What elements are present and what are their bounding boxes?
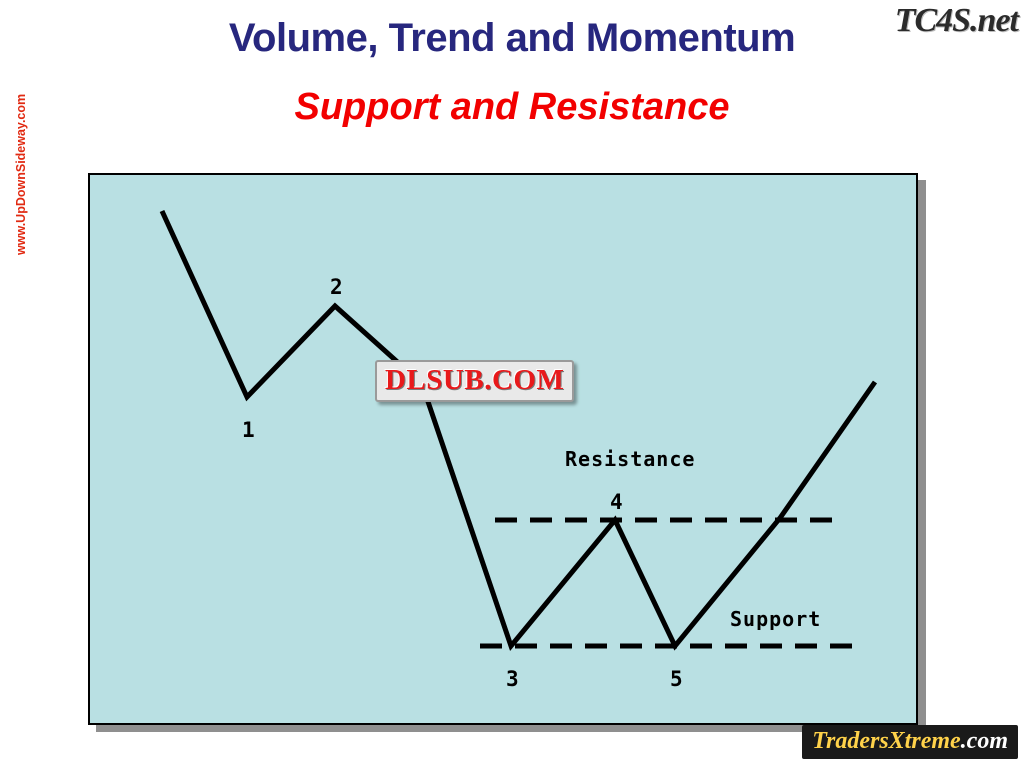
- brand-tradersxtreme-tld: .com: [961, 728, 1008, 754]
- dlsub-watermark: DLSUB.COM: [375, 360, 574, 402]
- page-title-line2: Support and Resistance: [0, 86, 1024, 129]
- brand-tradersxtreme-name: TradersXtreme: [812, 728, 960, 754]
- point-label-4: 4: [610, 490, 623, 514]
- price-line: [162, 211, 875, 646]
- point-label-3: 3: [506, 667, 519, 691]
- price-chart-svg: [90, 175, 918, 725]
- point-label-2: 2: [330, 275, 343, 299]
- resistance-label: Resistance: [565, 447, 695, 471]
- brand-tradersxtreme-logo: TradersXtreme.com: [802, 725, 1018, 759]
- page-title-line1: Volume, Trend and Momentum: [0, 16, 1024, 61]
- point-label-1: 1: [242, 418, 255, 442]
- brand-tc4s-logo: TC4S.net: [895, 2, 1018, 40]
- point-label-5: 5: [670, 667, 683, 691]
- support-label: Support: [730, 607, 821, 631]
- chart-panel: 1 2 3 4 5 Resistance Support DLSUB.COM: [88, 173, 918, 725]
